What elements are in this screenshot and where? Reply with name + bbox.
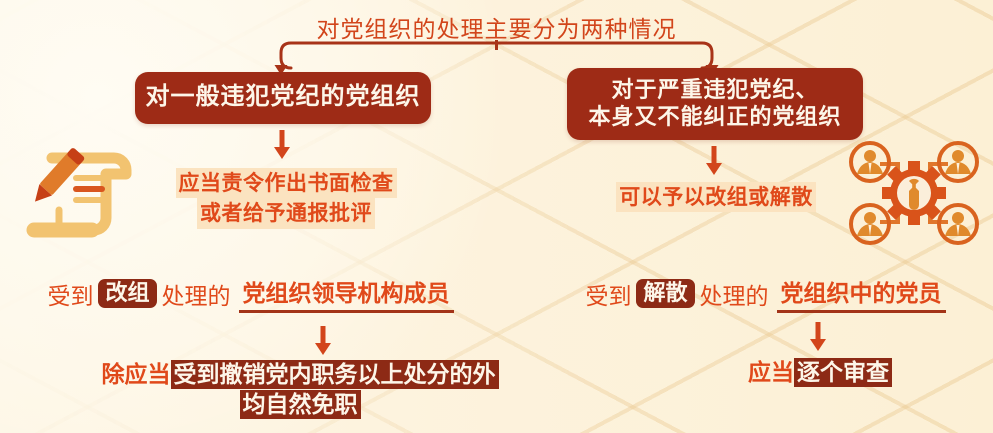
left-branch-header-box[interactable]: 对一般违犯党纪的党组织 [135, 72, 431, 124]
infographic-canvas: 对党组织的处理主要分为两种情况 对一般违犯党纪的党组织 对于严重违犯党纪、 本身… [0, 0, 993, 433]
arrow-down-left-bottom-icon [312, 326, 334, 356]
arrow-down-right-top-icon [703, 146, 725, 176]
right-conclusion-line1: 逐个审查 [794, 358, 892, 387]
left-statement-line2: 或者给予通报批评 [197, 198, 375, 228]
left-row-middle: 处理的 [157, 277, 236, 311]
left-subject-row: 受到 改组 处理的 党组织领导机构成员 [8, 274, 488, 313]
right-conclusion: 应当逐个审查 [680, 358, 960, 388]
page-title: 对党组织的处理主要分为两种情况 [0, 10, 993, 44]
right-subject-row: 受到 解散 处理的 党组织中的党员 [548, 274, 978, 313]
right-row-middle: 处理的 [695, 277, 774, 311]
right-statement-line1: 可以予以改组或解散 [616, 182, 816, 212]
right-row-prefix: 受到 [580, 277, 636, 311]
right-branch-header-line2: 本身又不能纠正的党组织 [588, 104, 841, 129]
left-row-prefix: 受到 [42, 277, 98, 311]
right-branch-header-line1: 对于严重违犯党纪、 [611, 77, 818, 102]
left-conclusion-line2: 均自然免职 [240, 390, 361, 419]
right-row-emphasis: 党组织中的党员 [777, 274, 946, 313]
right-branch-statement: 可以予以改组或解散 [568, 182, 864, 212]
left-branch-header-text: 对一般违犯党纪的党组织 [146, 83, 421, 112]
arrow-down-left-top-icon [271, 130, 293, 160]
left-conclusion-lead: 除应当 [102, 362, 171, 387]
left-branch-statement: 应当责令作出书面检查 或者给予通报批评 [136, 168, 436, 229]
right-branch-header-text: 对于严重违犯党纪、 本身又不能纠正的党组织 [588, 77, 841, 131]
right-branch-header-box[interactable]: 对于严重违犯党纪、 本身又不能纠正的党组织 [567, 68, 863, 140]
arrow-down-right-bottom-icon [807, 322, 829, 352]
left-row-emphasis: 党组织领导机构成员 [239, 274, 454, 313]
reorganization-gear-people-icon [846, 140, 982, 246]
left-row-badge[interactable]: 改组 [98, 279, 156, 308]
left-conclusion: 除应当受到撤销党内职务以上处分的外 均自然免职 [80, 360, 520, 420]
right-conclusion-lead: 应当 [748, 360, 794, 385]
document-pencil-icon [14, 142, 140, 246]
left-statement-line1: 应当责令作出书面检查 [176, 168, 397, 198]
left-conclusion-line1: 受到撤销党内职务以上处分的外 [171, 360, 499, 389]
right-row-badge[interactable]: 解散 [636, 279, 694, 308]
